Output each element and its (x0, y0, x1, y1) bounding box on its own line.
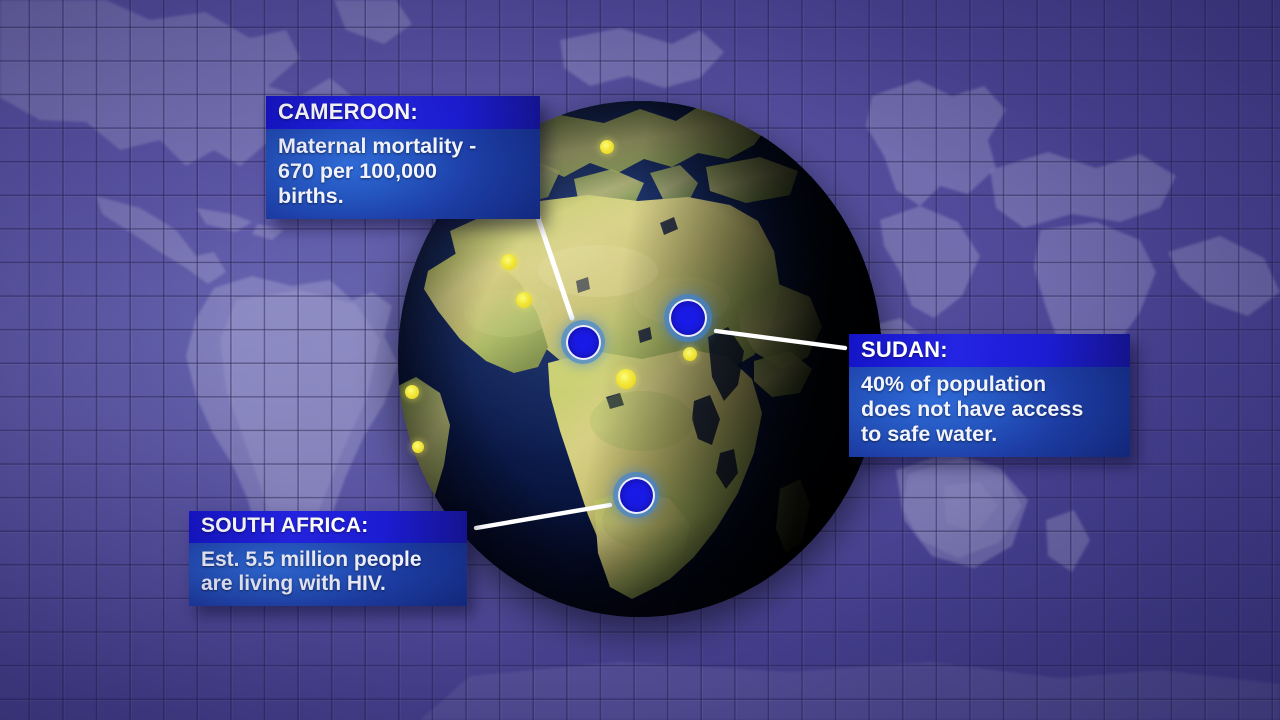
highlight-dot (501, 254, 517, 270)
callout-body: Est. 5.5 million people are living with … (189, 543, 467, 607)
callout-line: 670 per 100,000 (278, 159, 528, 184)
highlight-dot (412, 441, 424, 453)
callout-line: does not have access (861, 397, 1118, 422)
callout-line: births. (278, 184, 528, 209)
marker-ring (669, 299, 707, 337)
cameroon-marker[interactable] (561, 320, 605, 364)
callout-south-africa[interactable]: SOUTH AFRICA: Est. 5.5 million people ar… (189, 511, 467, 606)
callout-header: CAMEROON: (266, 96, 540, 129)
callout-line: Est. 5.5 million people (201, 548, 455, 573)
highlight-dot (516, 292, 532, 308)
sudan-marker[interactable] (664, 294, 712, 342)
callout-cameroon[interactable]: CAMEROON: Maternal mortality - 670 per 1… (266, 96, 540, 219)
callout-line: Maternal mortality - (278, 134, 528, 159)
highlight-dot (405, 385, 419, 399)
south-africa-marker[interactable] (613, 472, 659, 518)
callout-header: SOUTH AFRICA: (189, 511, 467, 543)
callout-body: 40% of population does not have access t… (849, 367, 1130, 457)
callout-header: SUDAN: (849, 334, 1130, 367)
callout-line: 40% of population (861, 372, 1118, 397)
highlight-dot (683, 347, 697, 361)
highlight-dot (616, 369, 636, 389)
marker-ring (566, 325, 601, 360)
callout-line: are living with HIV. (201, 572, 455, 597)
callout-sudan[interactable]: SUDAN: 40% of population does not have a… (849, 334, 1130, 457)
marker-ring (618, 477, 655, 514)
callout-body: Maternal mortality - 670 per 100,000 bir… (266, 129, 540, 219)
highlight-dot (600, 140, 614, 154)
graphic-stage: CAMEROON: Maternal mortality - 670 per 1… (0, 0, 1280, 720)
callout-line: to safe water. (861, 422, 1118, 447)
